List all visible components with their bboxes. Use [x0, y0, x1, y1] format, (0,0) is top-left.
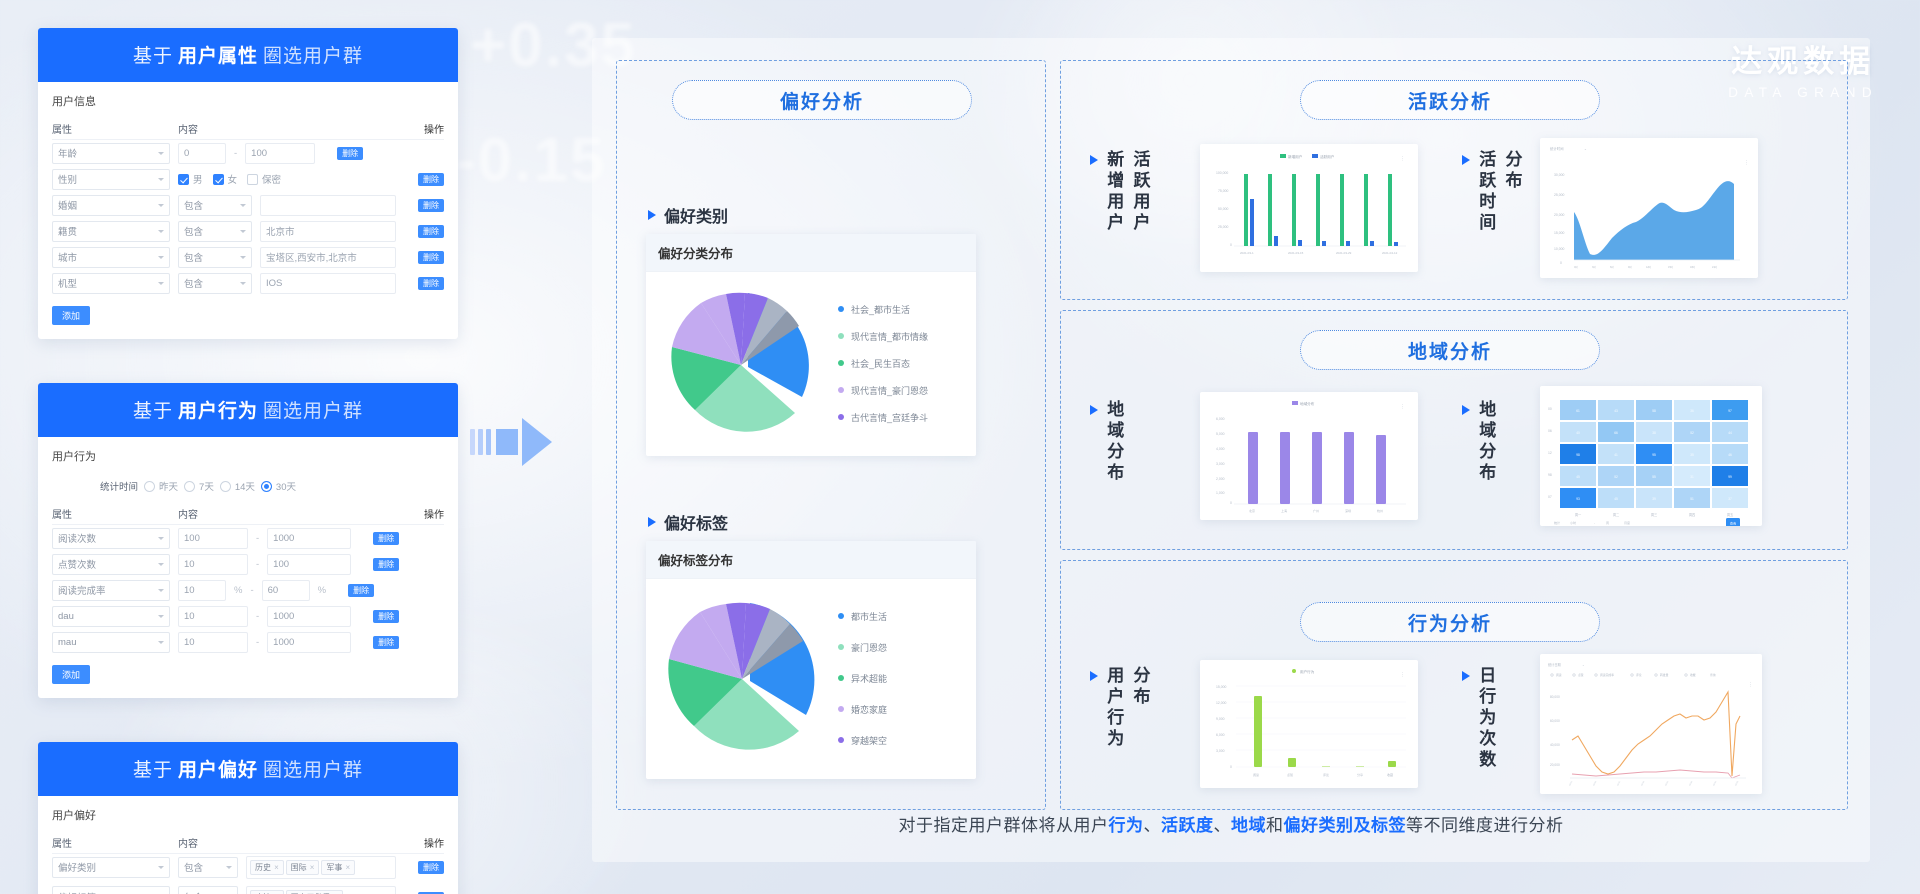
close-icon[interactable]: × — [274, 863, 279, 872]
legend-item[interactable]: 穿越架空 — [838, 734, 887, 747]
chevron-down-icon — [240, 230, 246, 233]
svg-text:58: 58 — [1652, 409, 1656, 413]
label-distribution: 分布 — [1501, 150, 1522, 192]
card-user-behavior-header: 基于用户行为圈选用户群 — [38, 383, 458, 437]
row-action-link[interactable]: 删除 — [323, 147, 363, 160]
section-caption: 用户信息 — [52, 93, 444, 109]
triangle-bullet-icon — [1090, 155, 1098, 165]
col-action: 操作 — [404, 121, 444, 136]
range-max-input[interactable]: 1000 — [267, 632, 351, 653]
label-active-user: 活跃用户 — [1129, 150, 1150, 234]
svg-text:9,000: 9,000 — [1216, 717, 1225, 721]
svg-text:广州: 广州 — [1313, 508, 1319, 513]
svg-text:统计: 统计 — [1554, 520, 1560, 525]
col-action: 操作 — [404, 506, 444, 521]
preference-analysis-title: 偏好分析 — [672, 80, 972, 120]
legend-dot-icon — [838, 675, 844, 681]
value-input[interactable]: IOS — [260, 273, 396, 294]
region-distribution-bar-chart: 地域分布 ⋮ 6,0005,0004,000 3,0002,0001,0000 … — [1200, 392, 1418, 520]
analysis-panel: 偏好分析 偏好类别 偏好分类分布 社会_都市生活 现 — [592, 38, 1870, 862]
operator-select[interactable]: 包含 — [178, 857, 238, 878]
svg-text:深圳: 深圳 — [1345, 508, 1351, 513]
head-lead: 基于 — [133, 760, 173, 781]
caption-keyword-behavior: 行为 — [1109, 816, 1144, 835]
attr-select[interactable]: 城市 — [52, 247, 170, 268]
svg-text:97: 97 — [1728, 409, 1732, 413]
radio-30days[interactable]: 30天 — [261, 479, 296, 493]
svg-text:点赞: 点赞 — [1287, 772, 1293, 777]
attr-select[interactable]: 婚姻 — [52, 195, 170, 216]
svg-text:5,000: 5,000 — [1216, 432, 1225, 436]
attr-select[interactable]: dau — [52, 606, 170, 627]
add-button[interactable]: 添加 — [52, 306, 90, 325]
row-action-label: 删除 — [348, 584, 374, 597]
svg-text:41: 41 — [1614, 453, 1618, 457]
checkbox-icon — [178, 174, 189, 185]
region-heatmap-chart: 0006129807 6143583697 4066385244 9841953… — [1540, 386, 1762, 526]
operator-value: 包含 — [184, 860, 203, 874]
row-action-label: 删除 — [418, 251, 444, 264]
legend-item[interactable]: 社会_民生百态 — [838, 357, 928, 370]
close-icon[interactable]: × — [310, 863, 315, 872]
section-caption: 用户偏好 — [52, 807, 444, 823]
legend-item[interactable]: 现代言情_豪门恩怨 — [838, 384, 928, 397]
row-action-label: 删除 — [373, 610, 399, 623]
legend-dot-icon — [838, 414, 844, 420]
svg-text:2021-03-1: 2021-03-1 — [1240, 251, 1254, 255]
range-max-input[interactable]: 60 — [262, 580, 310, 601]
chevron-down-icon — [158, 615, 164, 618]
preference-tag-card: 偏好标签分布 都市生活 豪门恩怨 异术超能 婚恋家庭 穿越架空 — [646, 541, 976, 779]
svg-text:统计时间: 统计时间 — [1550, 146, 1564, 151]
head-tail: 圈选用户群 — [263, 760, 363, 781]
operator-select[interactable]: 包含 — [178, 195, 252, 216]
label-user-behavior: 用户行为 — [1103, 666, 1124, 750]
tag-chip[interactable]: 疫情× — [250, 890, 284, 894]
unit-percent: % — [234, 585, 242, 596]
legend-item[interactable]: 现代言情_都市情缘 — [838, 330, 928, 343]
row-action-link[interactable]: 删除 — [359, 558, 399, 571]
legend-dot-icon — [838, 644, 844, 650]
value-input[interactable]: 宝塔区,西安市,北京市 — [260, 247, 396, 268]
svg-text:98: 98 — [1548, 473, 1552, 477]
legend-label: 都市生活 — [851, 610, 887, 623]
caption-keyword-region: 地域 — [1231, 816, 1266, 835]
active-user-bar-card: 100,00075,000 50,00025,0000 新增用户 活跃用户 ⋮ … — [1200, 144, 1418, 272]
caption-keyword-activity: 活跃度 — [1161, 816, 1214, 835]
tag-input[interactable]: 历史× 国际× 军事× — [246, 856, 396, 879]
svg-text:查询: 查询 — [1710, 673, 1716, 677]
range-min-input[interactable]: 10 — [178, 606, 248, 627]
attr-select-value: 阅读次数 — [58, 531, 96, 545]
table-row[interactable]: 城市 包含 宝塔区,西安市,北京市 删除 — [52, 244, 444, 270]
attr-select[interactable]: 偏好类别 — [52, 857, 170, 878]
svg-text:45: 45 — [1576, 475, 1580, 479]
row-action-label: 删除 — [418, 225, 444, 238]
row-action-label: 删除 — [418, 199, 444, 212]
svg-text:12时: 12时 — [1646, 265, 1652, 269]
checkbox-male[interactable]: 男 — [178, 172, 203, 186]
svg-text:35: 35 — [1690, 453, 1694, 457]
range-max-input[interactable]: 100 — [245, 143, 315, 164]
row-action-link[interactable]: 删除 — [334, 584, 374, 597]
checkbox-female[interactable]: 女 — [213, 172, 238, 186]
row-action-link[interactable]: 删除 — [404, 225, 444, 238]
svg-text:46: 46 — [1728, 453, 1732, 457]
attr-select-value: 年龄 — [58, 146, 77, 160]
svg-text:上海: 上海 — [1281, 508, 1287, 513]
chevron-down-icon — [226, 866, 232, 869]
row-action-link[interactable]: 删除 — [404, 199, 444, 212]
col-content: 内容 — [178, 835, 396, 850]
radio-label: 30天 — [276, 479, 296, 493]
table-header: 属性 内容 操作 — [52, 503, 444, 525]
table-row[interactable]: mau 10 - 1000 删除 — [52, 629, 444, 655]
table-row[interactable]: 偏好标签 包含 疫情× 国家卫健委× 新冠肺炎× 病例× 确诊× 确诊病例× 战… — [52, 880, 444, 894]
table-row[interactable]: 婚姻 包含 删除 — [52, 192, 444, 218]
svg-text:点赞: 点赞 — [1578, 673, 1584, 677]
attr-select[interactable]: 籍贯 — [52, 221, 170, 242]
chevron-down-icon — [240, 256, 246, 259]
svg-text:周: 周 — [1606, 520, 1609, 525]
radio-icon — [220, 481, 231, 492]
triangle-bullet-icon — [1462, 155, 1470, 165]
svg-text:93: 93 — [1576, 497, 1580, 501]
legend-item[interactable]: 豪门恩怨 — [838, 641, 887, 654]
chevron-down-icon — [158, 537, 164, 540]
tag-input[interactable]: 疫情× 国家卫健委× 新冠肺炎× 病例× 确诊× 确诊病例× 战疫× — [246, 886, 396, 894]
svg-text:新增用户: 新增用户 — [1288, 154, 1303, 159]
attr-select-value: 籍贯 — [58, 224, 77, 238]
svg-text:周二: 周二 — [1613, 512, 1619, 517]
svg-text:活跃用户: 活跃用户 — [1320, 154, 1335, 159]
daily-behavior-line-card: 统计日期⌄ 阅读 点赞 阅读完成率 评论 转发量 收藏 查询 ⋮ 80,0006… — [1540, 654, 1762, 794]
svg-text:6时: 6时 — [1610, 265, 1614, 269]
row-action-link[interactable]: 删除 — [404, 173, 444, 186]
table-row[interactable]: dau 10 - 1000 删除 — [52, 603, 444, 629]
row-action-label: 删除 — [373, 532, 399, 545]
checkbox-label: 保密 — [262, 172, 281, 186]
tag-chip[interactable]: 历史× — [250, 860, 284, 875]
svg-text:20,000: 20,000 — [1554, 213, 1564, 217]
card-user-attribute-header: 基于用户属性圈选用户群 — [38, 28, 458, 82]
legend-item[interactable]: 都市生活 — [838, 610, 887, 623]
operator-value: 包含 — [184, 224, 203, 238]
svg-text:0: 0 — [1230, 501, 1232, 505]
row-action-label: 删除 — [373, 558, 399, 571]
preference-tag-legend: 都市生活 豪门恩怨 异术超能 婚恋家庭 穿越架空 — [838, 610, 887, 747]
region-distribution-label-group-left: 地域分布 — [1090, 400, 1188, 484]
row-action-link[interactable]: 删除 — [404, 277, 444, 290]
svg-text:31: 31 — [1690, 475, 1694, 479]
legend-item[interactable]: 社会_都市生活 — [838, 303, 928, 316]
operator-value: 包含 — [184, 276, 203, 290]
table-row[interactable]: 年龄 0 - 100 删除 — [52, 140, 444, 166]
card-user-preference-header: 基于用户偏好圈选用户群 — [38, 742, 458, 796]
legend-dot-icon — [838, 333, 844, 339]
head-tail: 圈选用户群 — [263, 401, 363, 422]
svg-text:统计日期: 统计日期 — [1548, 662, 1561, 667]
svg-text:00: 00 — [1548, 407, 1552, 411]
svg-text:03-16: 03-16 — [1641, 780, 1646, 786]
svg-text:18时: 18时 — [1690, 265, 1696, 269]
attr-select[interactable]: 性别 — [52, 169, 170, 190]
svg-text:37: 37 — [1728, 497, 1732, 501]
card-title: 偏好分类分布 — [646, 234, 976, 272]
head-lead: 基于 — [133, 401, 173, 422]
table-row[interactable]: 点赞次数 10 - 100 删除 — [52, 551, 444, 577]
col-attr: 属性 — [52, 506, 170, 521]
svg-text:44: 44 — [1728, 431, 1732, 435]
range-separator: - — [250, 585, 253, 596]
caption-part-5: 等不同维度进行分析 — [1406, 816, 1564, 835]
operator-select[interactable]: 包含 — [178, 273, 252, 294]
checkbox-secret[interactable]: 保密 — [247, 172, 281, 186]
svg-text:20,000: 20,000 — [1550, 763, 1560, 767]
range-min-input[interactable]: 0 — [178, 143, 226, 164]
chevron-down-icon — [158, 641, 164, 644]
radio-label: 7天 — [199, 479, 214, 493]
range-min-input[interactable]: 10 — [178, 632, 248, 653]
svg-text:04-05: 04-05 — [1735, 780, 1740, 786]
svg-text:15,000: 15,000 — [1216, 685, 1226, 689]
arrow-head — [522, 418, 552, 466]
svg-text:周四: 周四 — [1689, 512, 1695, 517]
label-distribution: 分布 — [1129, 666, 1150, 708]
svg-text:2021-04-12: 2021-04-12 — [1382, 251, 1398, 255]
range-separator: - — [256, 637, 259, 648]
active-time-area-chart: 统计时间⌄⋮ 30,00025,00020,000 15,00010,0000 … — [1540, 138, 1758, 278]
legend-label: 现代言情_都市情缘 — [851, 330, 928, 343]
attr-select-value: 偏好标签 — [58, 890, 96, 894]
legend-label: 豪门恩怨 — [851, 641, 887, 654]
daily-behavior-line-chart: 统计日期⌄ 阅读 点赞 阅读完成率 评论 转发量 收藏 查询 ⋮ 80,0006… — [1540, 654, 1762, 794]
svg-text:⋮: ⋮ — [1744, 160, 1749, 166]
operator-value: 包含 — [184, 198, 203, 212]
active-analysis-title: 活跃分析 — [1300, 80, 1600, 120]
attr-select-value: 婚姻 — [58, 198, 77, 212]
row-action-link[interactable]: 删除 — [404, 251, 444, 264]
user-behavior-bar-card: 用户行为 ⋮ 15,00012,0009,000 6,0003,0000 阅读点… — [1200, 660, 1418, 788]
svg-text:03-11: 03-11 — [1617, 780, 1622, 786]
checkbox-icon — [213, 174, 224, 185]
chevron-down-icon — [158, 256, 164, 259]
legend-label: 异术超能 — [851, 672, 887, 685]
tag-chip[interactable]: 国际× — [286, 860, 320, 875]
svg-text:6,000: 6,000 — [1216, 417, 1225, 421]
attr-select[interactable]: 阅读次数 — [52, 528, 170, 549]
row-action-link[interactable]: 删除 — [359, 610, 399, 623]
svg-text:80,000: 80,000 — [1550, 695, 1560, 699]
label-region-distribution: 地域分布 — [1475, 400, 1496, 484]
triangle-bullet-icon — [1090, 405, 1098, 415]
subtitle-label: 偏好标签 — [664, 510, 728, 534]
triangle-bullet-icon — [1462, 405, 1470, 415]
range-max-input[interactable]: 100 — [267, 554, 351, 575]
preference-category-card: 偏好分类分布 社会_都市生活 现代言情_都市情缘 社会_民生百态 现 — [646, 234, 976, 456]
attr-select[interactable]: 偏好标签 — [52, 886, 170, 894]
range-max-input[interactable]: 1000 — [267, 606, 351, 627]
range-min-input[interactable]: 10 — [178, 554, 248, 575]
svg-text:15,000: 15,000 — [1554, 231, 1564, 235]
svg-text:地域分布: 地域分布 — [1300, 401, 1315, 406]
table-row[interactable]: 籍贯 包含 北京市 删除 — [52, 218, 444, 244]
range-separator: - — [256, 559, 259, 570]
legend-dot-icon — [838, 306, 844, 312]
caption-part-4: 和 — [1266, 816, 1284, 835]
svg-text:-: - — [1594, 521, 1595, 525]
close-icon[interactable]: × — [345, 863, 350, 872]
svg-text:杭州: 杭州 — [1377, 508, 1383, 513]
radio-label: 昨天 — [159, 479, 178, 493]
attr-select[interactable]: 机型 — [52, 273, 170, 294]
svg-text:30,000: 30,000 — [1554, 173, 1564, 177]
time-range-radio-group[interactable]: 统计时间 昨天 7天 14天 30天 — [52, 473, 444, 499]
attr-select-value: dau — [58, 611, 74, 622]
svg-text:98: 98 — [1576, 453, 1580, 457]
svg-text:周三: 周三 — [1651, 512, 1657, 517]
tag-label: 国际 — [291, 862, 307, 873]
attr-select-value: 城市 — [58, 250, 77, 264]
row-action-label: 删除 — [418, 277, 444, 290]
triangle-bullet-icon — [648, 517, 656, 527]
svg-text:99: 99 — [1728, 475, 1732, 479]
legend-label: 穿越架空 — [851, 734, 887, 747]
head-focus: 用户行为 — [178, 401, 258, 422]
region-analysis-title: 地域分析 — [1300, 330, 1600, 370]
legend-label: 婚恋家庭 — [851, 703, 887, 716]
tag-chip[interactable]: 国家卫健委× — [286, 890, 344, 894]
row-action-link[interactable]: 删除 — [359, 636, 399, 649]
svg-text:100,000: 100,000 — [1216, 171, 1228, 175]
legend-label: 古代言情_宫廷争斗 — [851, 411, 928, 424]
value-input[interactable] — [260, 195, 396, 216]
legend-dot-icon — [838, 613, 844, 619]
legend-dot-icon — [838, 360, 844, 366]
range-min-input[interactable]: 10 — [178, 580, 226, 601]
svg-text:0时: 0时 — [1574, 265, 1578, 269]
svg-text:38: 38 — [1652, 431, 1656, 435]
radio-7days[interactable]: 7天 — [184, 479, 214, 493]
table-row[interactable]: 机型 包含 IOS 删除 — [52, 270, 444, 296]
label-active-time: 活跃时间 — [1475, 150, 1496, 234]
preference-tag-subtitle: 偏好标签 — [648, 510, 728, 534]
radio-14days[interactable]: 14天 — [220, 479, 255, 493]
svg-text:15时: 15时 — [1668, 265, 1674, 269]
legend-label: 现代言情_豪门恩怨 — [851, 384, 928, 397]
svg-text:07: 07 — [1548, 495, 1552, 499]
svg-text:收藏: 收藏 — [1690, 673, 1696, 677]
head-tail: 圈选用户群 — [263, 46, 363, 67]
flow-arrow-icon — [470, 418, 552, 466]
head-focus: 用户属性 — [178, 46, 258, 67]
svg-text:36: 36 — [1690, 409, 1694, 413]
tag-chip[interactable]: 军事× — [321, 860, 355, 875]
svg-text:0: 0 — [1230, 765, 1232, 769]
attr-select-value: mau — [58, 637, 76, 648]
svg-text:3时: 3时 — [1592, 265, 1596, 269]
svg-text:95: 95 — [1652, 453, 1656, 457]
region-bar-card: 地域分布 ⋮ 6,0005,0004,000 3,0002,0001,0000 … — [1200, 392, 1418, 520]
svg-text:03-01: 03-01 — [1569, 780, 1574, 786]
attr-select[interactable]: 点赞次数 — [52, 554, 170, 575]
range-separator: - — [256, 533, 259, 544]
segmentation-cards-column: 基于用户属性圈选用户群 用户信息 属性 内容 操作 年龄 0 - 100 删除 … — [38, 28, 458, 894]
range-max-input[interactable]: 1000 — [267, 528, 351, 549]
arrow-stem — [496, 429, 518, 455]
svg-text:分享: 分享 — [1357, 772, 1363, 777]
triangle-bullet-icon — [1090, 671, 1098, 681]
svg-text:12: 12 — [1548, 451, 1552, 455]
operator-select[interactable]: 包含 — [178, 886, 238, 894]
svg-text:25,000: 25,000 — [1554, 193, 1564, 197]
operator-select[interactable]: 包含 — [178, 221, 252, 242]
card-user-behavior: 基于用户行为圈选用户群 用户行为 统计时间 昨天 7天 14天 30天 属性 内… — [38, 383, 458, 698]
chevron-down-icon — [158, 178, 164, 181]
attr-select-value: 阅读完成率 — [58, 583, 106, 597]
legend-item[interactable]: 古代言情_宫廷争斗 — [838, 411, 928, 424]
row-action-link[interactable]: 删除 — [404, 861, 444, 874]
attr-select-value: 点赞次数 — [58, 557, 96, 571]
col-attr: 属性 — [52, 121, 170, 136]
table-row[interactable]: 阅读次数 100 - 1000 删除 — [52, 525, 444, 551]
svg-text:60,000: 60,000 — [1550, 719, 1560, 723]
svg-text:2,000: 2,000 — [1216, 477, 1225, 481]
svg-text:75,000: 75,000 — [1218, 189, 1228, 193]
region-heatmap-card: 0006129807 6143583697 4066385244 9841953… — [1540, 386, 1762, 526]
legend-label: 社会_都市生活 — [851, 303, 910, 316]
caption-part-1: 对于指定用户群体将从用户 — [899, 816, 1109, 835]
label-region-distribution: 地域分布 — [1103, 400, 1124, 484]
add-button[interactable]: 添加 — [52, 665, 90, 684]
chevron-down-icon — [240, 282, 246, 285]
caption-part-2: 、 — [1144, 816, 1162, 835]
table-row[interactable]: 性别 男 女 保密 删除 — [52, 166, 444, 192]
svg-text:收藏: 收藏 — [1387, 772, 1393, 777]
legend-item[interactable]: 婚恋家庭 — [838, 703, 887, 716]
operator-select[interactable]: 包含 — [178, 247, 252, 268]
legend-item[interactable]: 异术超能 — [838, 672, 887, 685]
chevron-down-icon — [240, 204, 246, 207]
chevron-down-icon — [158, 282, 164, 285]
operator-value: 包含 — [184, 890, 203, 894]
attr-select[interactable]: 阅读完成率 — [52, 580, 170, 601]
card-user-preference: 基于用户偏好圈选用户群 用户偏好 属性 内容 操作 偏好类别 包含 历史× 国际… — [38, 742, 458, 894]
table-header: 属性 内容 操作 — [52, 118, 444, 140]
range-separator: - — [256, 611, 259, 622]
checkbox-label: 女 — [228, 172, 238, 186]
svg-text:北京: 北京 — [1249, 508, 1255, 513]
svg-text:40,000: 40,000 — [1550, 743, 1560, 747]
radio-label: 14天 — [235, 479, 255, 493]
svg-text:4,000: 4,000 — [1216, 447, 1225, 451]
radio-yesterday[interactable]: 昨天 — [144, 479, 178, 493]
table-row[interactable]: 偏好类别 包含 历史× 国际× 军事× 删除 — [52, 854, 444, 880]
value-input[interactable]: 北京市 — [260, 221, 396, 242]
attr-select[interactable]: mau — [52, 632, 170, 653]
chevron-down-icon — [158, 563, 164, 566]
row-action-link[interactable]: 删除 — [404, 886, 444, 894]
col-action: 操作 — [404, 835, 444, 850]
svg-text:阅读完成率: 阅读完成率 — [1600, 673, 1614, 677]
svg-text:10,000: 10,000 — [1554, 247, 1564, 251]
triangle-bullet-icon — [648, 210, 656, 220]
summary-caption: 对于指定用户群体将从用户行为、活跃度、地域和偏好类别及标签等不同维度进行分析 — [592, 811, 1870, 836]
attr-select[interactable]: 年龄 — [52, 143, 170, 164]
row-action-link[interactable]: 删除 — [359, 532, 399, 545]
table-row[interactable]: 阅读完成率 10 % - 60 % 删除 — [52, 577, 444, 603]
range-min-input[interactable]: 100 — [178, 528, 248, 549]
